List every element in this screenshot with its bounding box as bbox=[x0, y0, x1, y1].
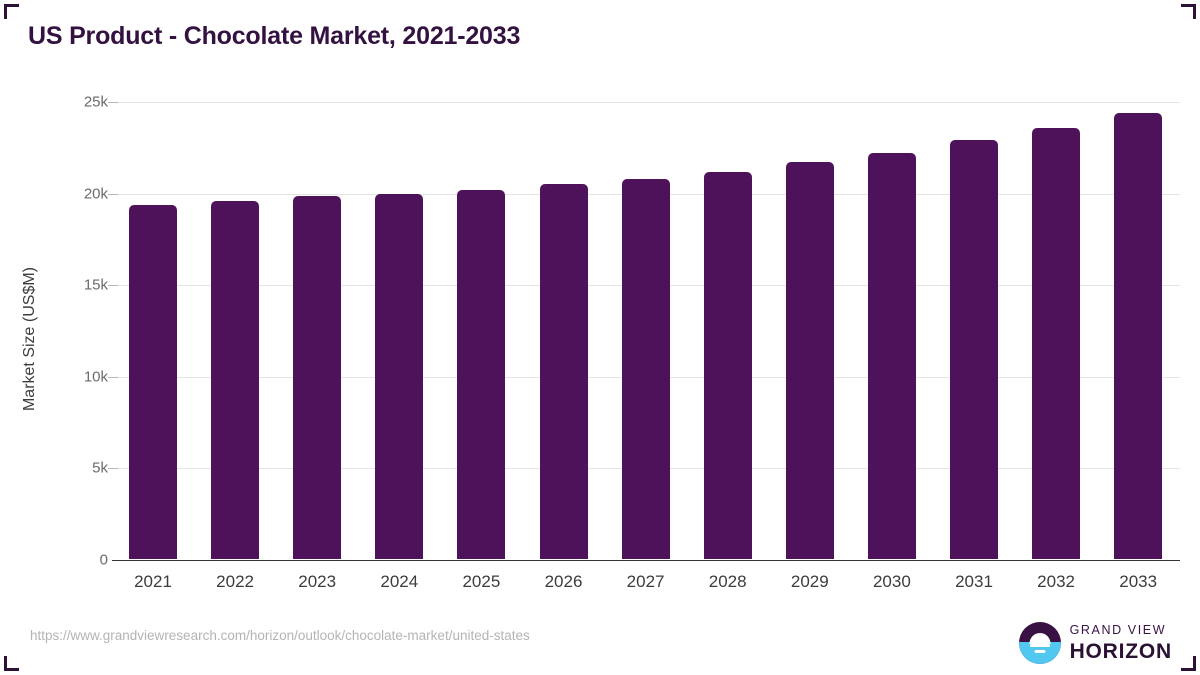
x-tick-label-2028: 2028 bbox=[683, 572, 773, 592]
grand-view-horizon-logo[interactable]: GRAND VIEW HORIZON bbox=[1019, 620, 1172, 666]
y-tick-label: 20k bbox=[48, 185, 108, 202]
bar-2026[interactable] bbox=[540, 184, 588, 559]
bar-2030[interactable] bbox=[868, 153, 916, 559]
bar-2029[interactable] bbox=[786, 162, 834, 559]
x-tick-label-2025: 2025 bbox=[436, 572, 526, 592]
x-tick-label-2026: 2026 bbox=[519, 572, 609, 592]
plot-area: Market Size (US$M) 05k10k15k20k25k 20212… bbox=[0, 0, 1200, 675]
y-tick-mark bbox=[108, 194, 118, 195]
x-tick-label-2033: 2033 bbox=[1093, 572, 1183, 592]
horizon-sun-icon bbox=[1019, 622, 1061, 664]
bar-2024[interactable] bbox=[375, 194, 423, 559]
bar-2021[interactable] bbox=[129, 205, 177, 559]
y-tick-label: 15k bbox=[48, 277, 108, 294]
y-tick-label: 25k bbox=[48, 94, 108, 111]
logo-wordmark: GRAND VIEW HORIZON bbox=[1070, 624, 1172, 662]
bar-2031[interactable] bbox=[950, 140, 998, 559]
x-tick-label-2030: 2030 bbox=[847, 572, 937, 592]
bar-2027[interactable] bbox=[622, 179, 670, 560]
logo-sun-shape bbox=[1029, 633, 1050, 644]
bar-2023[interactable] bbox=[293, 196, 341, 559]
x-tick-label-2032: 2032 bbox=[1011, 572, 1101, 592]
y-tick-mark bbox=[108, 377, 118, 378]
bar-2025[interactable] bbox=[457, 190, 505, 560]
bar-2033[interactable] bbox=[1114, 113, 1162, 560]
x-tick-label-2031: 2031 bbox=[929, 572, 1019, 592]
y-axis-title: Market Size (US$M) bbox=[21, 139, 39, 539]
source-url[interactable]: https://www.grandviewresearch.com/horizo… bbox=[30, 628, 530, 643]
x-axis-line bbox=[112, 560, 1180, 562]
y-tick-mark bbox=[108, 285, 118, 286]
x-tick-label-2027: 2027 bbox=[601, 572, 691, 592]
y-tick-label: 10k bbox=[48, 368, 108, 385]
x-tick-label-2029: 2029 bbox=[765, 572, 855, 592]
x-tick-label-2024: 2024 bbox=[354, 572, 444, 592]
logo-ray-long bbox=[1030, 644, 1050, 647]
bar-2028[interactable] bbox=[704, 172, 752, 560]
chart-canvas: US Product - Chocolate Market, 2021-2033… bbox=[0, 0, 1200, 675]
bar-2032[interactable] bbox=[1032, 128, 1080, 560]
y-tick-label: 0 bbox=[48, 551, 108, 568]
y-tick-mark bbox=[108, 468, 118, 469]
logo-line-grand-view: GRAND VIEW bbox=[1070, 624, 1172, 637]
y-tick-mark bbox=[108, 102, 118, 103]
x-tick-label-2022: 2022 bbox=[190, 572, 280, 592]
bar-2022[interactable] bbox=[211, 201, 259, 560]
y-tick-label: 5k bbox=[48, 460, 108, 477]
x-tick-label-2023: 2023 bbox=[272, 572, 362, 592]
x-tick-label-2021: 2021 bbox=[108, 572, 198, 592]
gridline bbox=[118, 102, 1180, 103]
logo-ray-short bbox=[1034, 650, 1045, 653]
logo-line-horizon: HORIZON bbox=[1070, 641, 1172, 662]
